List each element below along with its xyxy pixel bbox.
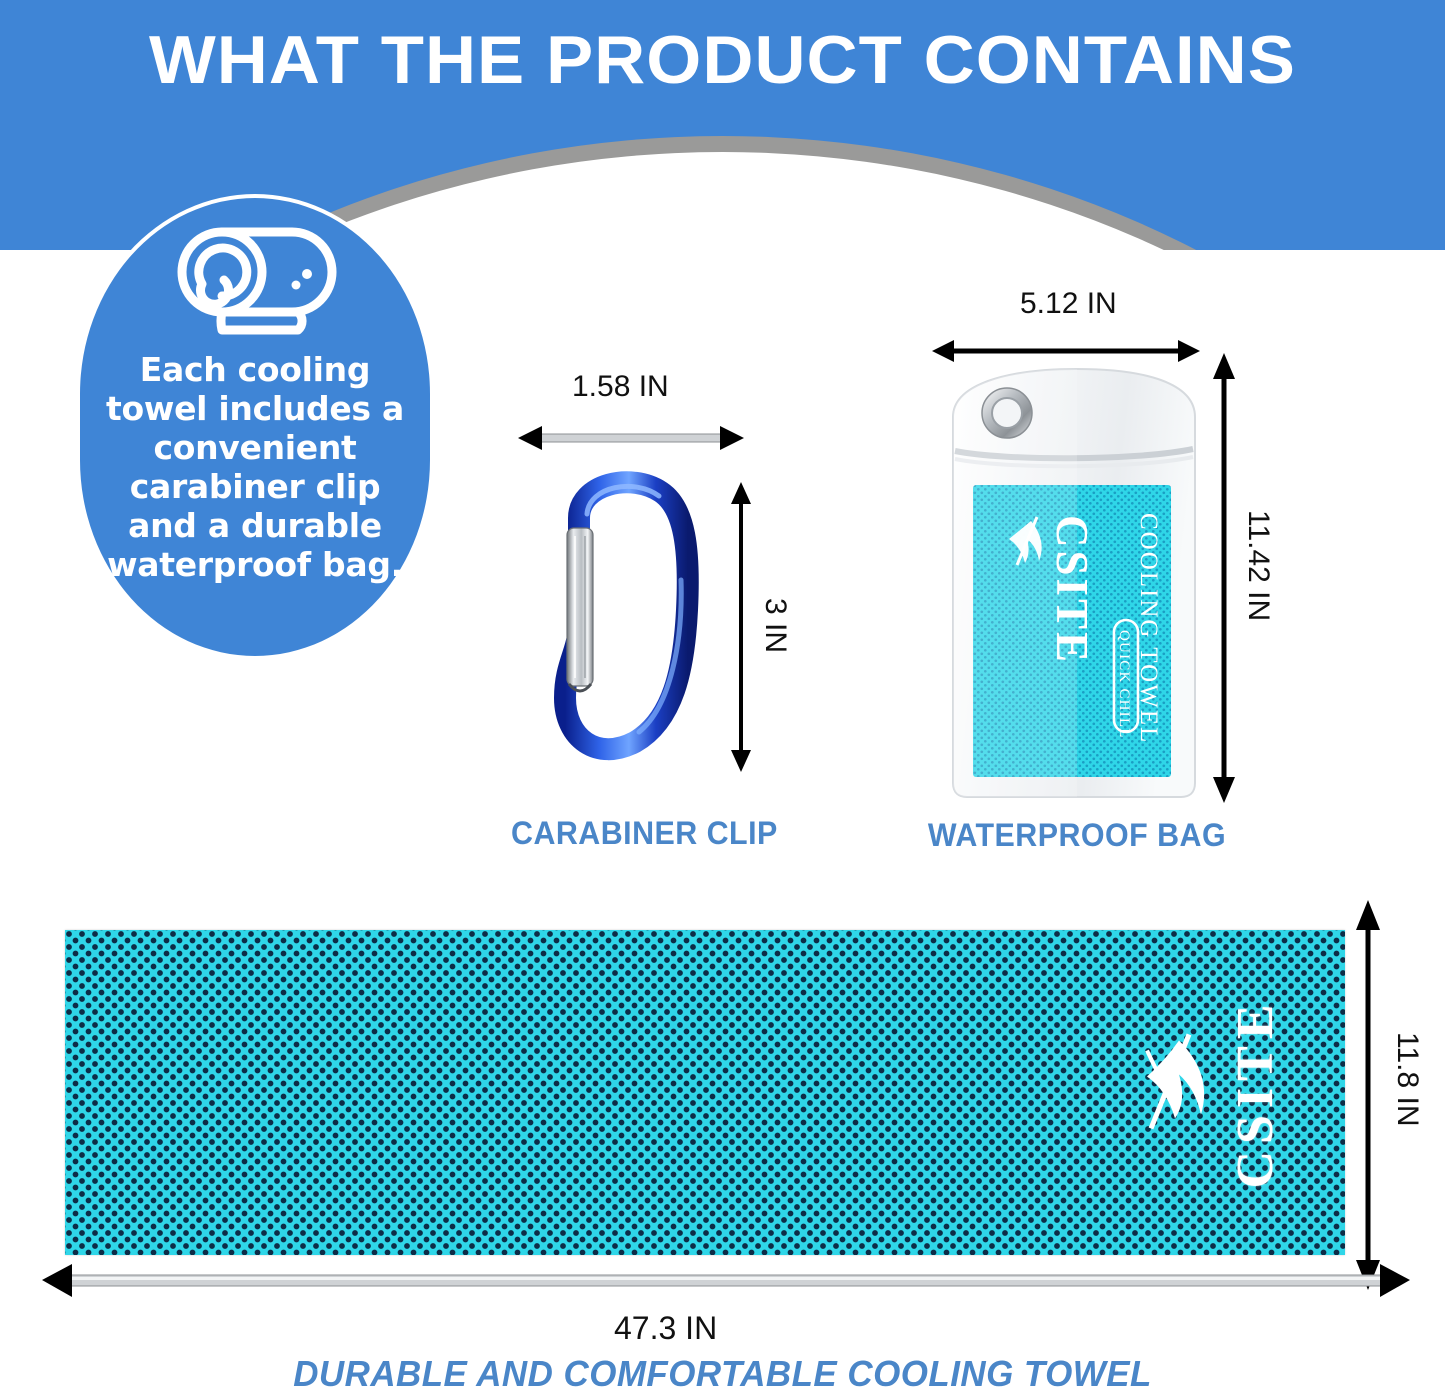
waterproof-bag-image: CSITE COOLING TOWEL QUICK CHILL bbox=[945, 365, 1215, 805]
rolled-towel-icon bbox=[170, 222, 340, 342]
page-title: WHAT THE PRODUCT CONTAINS bbox=[0, 20, 1445, 100]
bag-width-arrow bbox=[932, 337, 1200, 365]
info-bubble-text: Each cooling towel includes a convenient… bbox=[80, 342, 430, 584]
carabiner-width-label: 1.58 IN bbox=[572, 370, 669, 404]
towel-height-arrow bbox=[1352, 900, 1384, 1290]
bag-height-label: 11.42 IN bbox=[1241, 510, 1275, 621]
bag-caption: WATERPROOF BAG bbox=[928, 817, 1226, 854]
main-towel-logo: CSITE bbox=[1102, 997, 1285, 1188]
main-towel-image: CSITE bbox=[65, 930, 1345, 1255]
bag-height-arrow bbox=[1210, 353, 1238, 803]
main-towel-caption: DURABLE AND COMFORTABLE COOLING TOWEL bbox=[22, 1353, 1424, 1395]
main-towel-brand: CSITE bbox=[1226, 997, 1285, 1188]
towel-width-arrow bbox=[42, 1262, 1412, 1298]
carabiner-height-label: 3 IN bbox=[758, 598, 792, 653]
carabiner-group: 1.58 IN bbox=[480, 360, 820, 780]
waterproof-bag-group: 5.12 IN bbox=[945, 365, 1215, 805]
carabiner-height-arrow bbox=[728, 482, 754, 772]
towel-width-label: 47.3 IN bbox=[614, 1310, 717, 1347]
carabiner-caption: CARABINER CLIP bbox=[511, 815, 778, 852]
bag-towel-badge: QUICK CHILL bbox=[1116, 630, 1132, 739]
csite-swoosh-icon bbox=[1102, 1017, 1222, 1167]
bag-towel-brand: CSITE bbox=[1047, 515, 1097, 665]
towel-height-label: 11.8 IN bbox=[1390, 1032, 1424, 1127]
carabiner-width-arrow bbox=[516, 422, 746, 454]
info-bubble: Each cooling towel includes a convenient… bbox=[76, 194, 434, 660]
carabiner-clip-image bbox=[535, 470, 735, 770]
bag-width-label: 5.12 IN bbox=[1020, 287, 1117, 321]
